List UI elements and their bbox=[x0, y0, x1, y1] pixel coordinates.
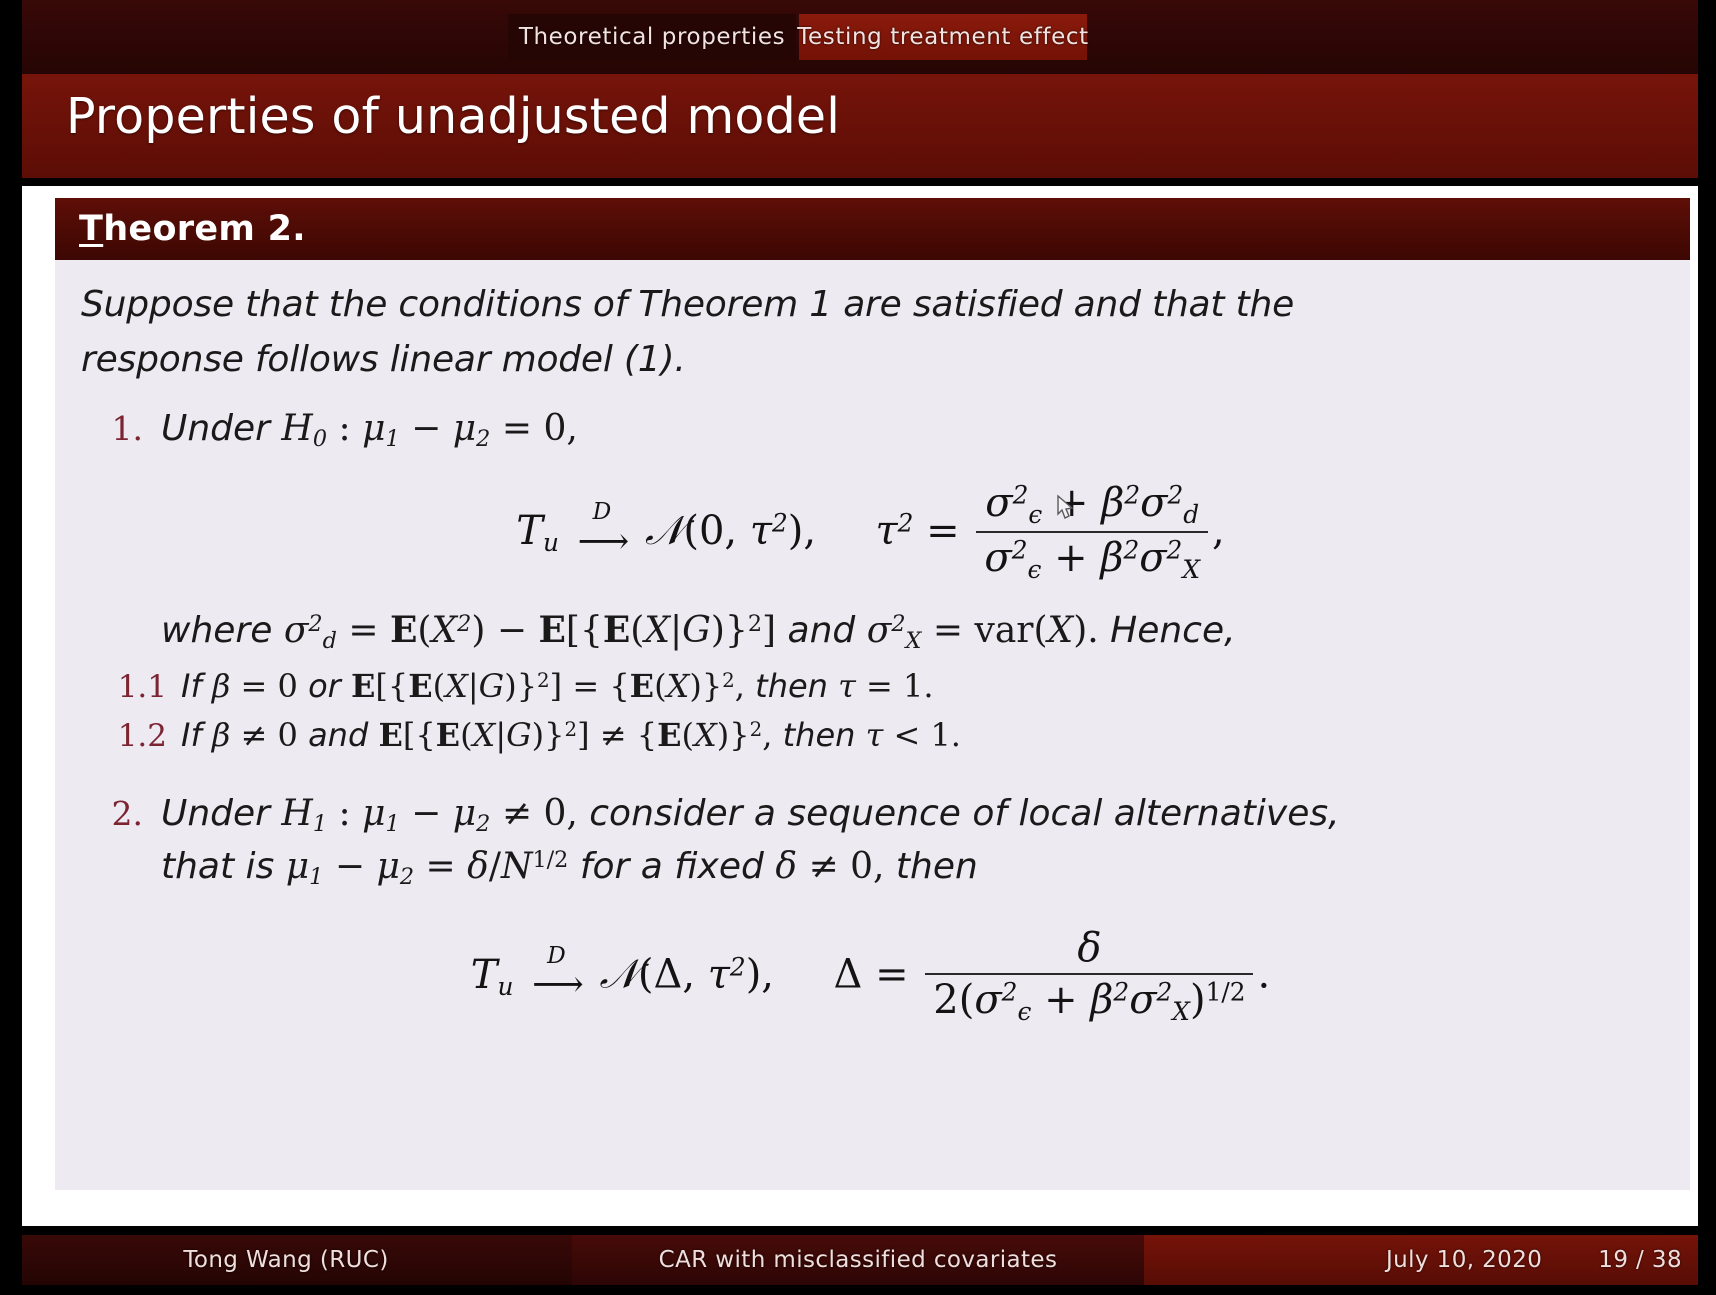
where-line: where σ2d = E(X2) − E[{E(X|G)}2] and σ2X… bbox=[161, 604, 1236, 658]
math-G: G bbox=[479, 667, 505, 705]
footer-date: July 10, 2020 bbox=[1386, 1247, 1542, 1273]
math-comma: , bbox=[735, 667, 745, 705]
theorem-statement: Suppose that the conditions of Theorem 1… bbox=[81, 278, 1660, 387]
item-1-number: 1. bbox=[81, 409, 161, 448]
theorem-item-2: 2. Under H1 : μ1 − μ2 ≠ 0, consider a se… bbox=[81, 788, 1660, 893]
math-sigma: σ bbox=[974, 977, 1001, 1023]
if-label: If bbox=[181, 667, 202, 705]
math-sup-2: 2 bbox=[748, 611, 762, 637]
math-zero: 0 bbox=[850, 846, 873, 887]
math-G: G bbox=[682, 610, 711, 651]
slide-content: Theorem 2. Suppose that the conditions o… bbox=[22, 186, 1698, 1226]
math-lparen: ( bbox=[433, 667, 445, 705]
math-bf-E: E bbox=[390, 609, 417, 651]
math-mid: | bbox=[670, 610, 682, 651]
math-lparen: ( bbox=[1034, 610, 1048, 651]
math-sub-1: 1 bbox=[385, 427, 399, 453]
math-sup-2: 2 bbox=[1123, 536, 1139, 565]
math-sup-2: 2 bbox=[1124, 481, 1140, 510]
math-sup-2: 2 bbox=[1167, 536, 1183, 565]
math-delta: δ bbox=[775, 846, 797, 887]
math-rparen: ) bbox=[746, 952, 762, 998]
math-mu: μ bbox=[453, 408, 476, 449]
fraction-denominator: 2(σ2ϵ + β2σ2X)1/2 bbox=[925, 973, 1253, 1026]
math-zero: 0 bbox=[278, 667, 298, 705]
math-X: X bbox=[644, 610, 670, 651]
math-sub-X: X bbox=[1182, 555, 1200, 584]
theorem-title-number: 2. bbox=[268, 209, 306, 249]
frame-edge-bottom bbox=[0, 1285, 1716, 1295]
math-beta: β bbox=[1100, 535, 1123, 581]
math-one: 1 bbox=[903, 667, 923, 705]
and-label: and bbox=[308, 716, 368, 754]
math-H: H bbox=[281, 408, 312, 449]
theorem-statement-line-1: Suppose that the conditions of Theorem 1… bbox=[81, 278, 1660, 333]
math-rbrace: } bbox=[729, 716, 749, 754]
item-2-text: Under H1 : μ1 − μ2 ≠ 0, consider a seque… bbox=[161, 788, 1340, 893]
slide-root: Theoretical properties Testing treatment… bbox=[0, 0, 1716, 1295]
math-sub-epsilon: ϵ bbox=[1027, 555, 1041, 584]
math-lparen: ( bbox=[654, 667, 666, 705]
footer-page-number: 19 / 38 bbox=[1598, 1247, 1682, 1273]
fraction-denominator: σ2ϵ + β2σ2X bbox=[976, 531, 1208, 584]
theorem-item-1: 1. Under H0 : μ1 − μ2 = 0, bbox=[81, 403, 1660, 456]
math-sup-2: 2 bbox=[898, 509, 914, 538]
math-plus: + bbox=[1055, 480, 1089, 526]
math-plus: + bbox=[1044, 977, 1078, 1023]
math-sup-half: 1/2 bbox=[1206, 978, 1246, 1007]
math-bf-E: E bbox=[538, 609, 565, 651]
math-sigma: σ bbox=[1139, 535, 1166, 581]
math-beta: β bbox=[212, 716, 231, 754]
math-sub-u: u bbox=[497, 972, 513, 1001]
math-sub-epsilon: ϵ bbox=[1028, 500, 1042, 529]
math-rparen: ) bbox=[788, 508, 804, 554]
math-sub-d: d bbox=[1183, 500, 1199, 529]
math-sigma: σ bbox=[1140, 480, 1167, 526]
math-two: 2 bbox=[933, 977, 958, 1023]
math-sup-2: 2 bbox=[565, 718, 578, 741]
math-lbrace: { bbox=[637, 716, 657, 754]
math-minus: − bbox=[497, 610, 527, 651]
math-sub-1: 1 bbox=[309, 864, 323, 890]
math-lbrack: [ bbox=[375, 667, 387, 705]
math-sigma: σ bbox=[1129, 977, 1156, 1023]
math-T: T bbox=[471, 952, 498, 998]
math-one: 1 bbox=[930, 716, 950, 754]
theorem-title-rest: heorem bbox=[103, 209, 255, 249]
then-label: then bbox=[896, 846, 978, 887]
math-rparen: ) bbox=[532, 716, 544, 754]
math-comma: , bbox=[1212, 508, 1225, 554]
math-sub-1: 1 bbox=[385, 811, 399, 837]
math-zero: 0 bbox=[278, 716, 298, 754]
frame-edge-left bbox=[0, 0, 22, 1295]
if-label: If bbox=[181, 716, 202, 754]
math-rbrace: } bbox=[544, 716, 564, 754]
math-sub-u: u bbox=[543, 528, 559, 557]
math-rparen: ) bbox=[1190, 977, 1206, 1023]
for-a-fixed-label: for a fixed bbox=[580, 846, 764, 887]
math-cal-N: 𝒩 bbox=[645, 508, 683, 554]
math-sigma: σ bbox=[867, 610, 892, 651]
math-sigma: σ bbox=[984, 535, 1011, 581]
theorem-block-title: Theorem 2. bbox=[79, 209, 306, 249]
math-lbrack: [ bbox=[566, 610, 580, 651]
item-1-1-text: If β = 0 or E[{E(X|G)}2] = {E(X)}2, then… bbox=[181, 663, 934, 709]
math-tau: τ bbox=[876, 508, 898, 554]
converges-in-distribution-arrow: D ⟶ bbox=[532, 944, 581, 1003]
math-beta: β bbox=[1090, 977, 1113, 1023]
math-lparen: ( bbox=[417, 610, 431, 651]
math-mu: μ bbox=[362, 408, 385, 449]
where-line-row: where σ2d = E(X2) − E[{E(X|G)}2] and σ2X… bbox=[81, 604, 1660, 658]
math-lparen: ( bbox=[638, 952, 654, 998]
math-lparen: ( bbox=[460, 716, 472, 754]
item-1-2-number: 1.2 bbox=[81, 718, 181, 754]
math-mu: μ bbox=[286, 846, 309, 887]
math-rparen: ) bbox=[504, 667, 516, 705]
item-1-1-number: 1.1 bbox=[81, 669, 181, 705]
math-eq: = bbox=[875, 952, 909, 998]
math-T: T bbox=[516, 508, 543, 554]
nav-item-theoretical-properties[interactable]: Theoretical properties bbox=[508, 14, 796, 60]
math-X: X bbox=[667, 667, 690, 705]
math-bf-E: E bbox=[436, 716, 460, 754]
that-is-label: that is bbox=[161, 846, 274, 887]
math-comma: , bbox=[761, 952, 774, 998]
math-sub-d: d bbox=[323, 628, 337, 654]
math-period: . bbox=[1257, 952, 1270, 998]
math-lbrace: { bbox=[580, 610, 603, 651]
math-comma: , bbox=[762, 716, 772, 754]
math-Delta: Δ bbox=[833, 952, 862, 998]
math-eq: = bbox=[502, 408, 532, 449]
and-label: and bbox=[788, 610, 856, 651]
math-colon: : bbox=[338, 408, 350, 449]
math-N: N bbox=[501, 846, 533, 887]
tau-squared-fraction: σ2ϵ + β2σ2d σ2ϵ + β2σ2X bbox=[976, 480, 1208, 584]
math-lbrace: { bbox=[388, 667, 408, 705]
nav-item-label: Theoretical properties bbox=[519, 24, 785, 50]
math-bf-E: E bbox=[378, 716, 402, 754]
math-rparen: ) bbox=[689, 667, 701, 705]
math-period: . bbox=[923, 667, 933, 705]
math-minus: − bbox=[411, 793, 441, 834]
math-sup-2: 2 bbox=[537, 670, 550, 693]
theorem-item-1-2: 1.2 If β ≠ 0 and E[{E(X|G)}2] ≠ {E(X)}2,… bbox=[81, 712, 1660, 758]
delta-fraction: δ 2(σ2ϵ + β2σ2X)1/2 bbox=[925, 925, 1253, 1026]
math-eq: = bbox=[348, 610, 378, 651]
math-comma: , bbox=[724, 508, 737, 554]
math-slash: / bbox=[489, 846, 501, 887]
math-comma: , bbox=[566, 793, 577, 834]
math-tau: τ bbox=[708, 952, 730, 998]
math-rparen: ) bbox=[1073, 610, 1087, 651]
nav-item-label: Testing treatment effect bbox=[797, 24, 1088, 50]
theorem-block-body: Suppose that the conditions of Theorem 1… bbox=[55, 260, 1690, 1190]
math-tau: τ bbox=[866, 716, 884, 754]
math-rbrack: ] bbox=[550, 667, 562, 705]
math-eq: = bbox=[933, 610, 963, 651]
math-comma: , bbox=[803, 508, 816, 554]
hence-label: Hence, bbox=[1110, 610, 1235, 651]
math-lparen: ( bbox=[683, 508, 699, 554]
math-X: X bbox=[431, 610, 457, 651]
math-rparen: ) bbox=[711, 610, 725, 651]
math-lparen: ( bbox=[630, 610, 644, 651]
math-cal-N: 𝒩 bbox=[600, 952, 638, 998]
equation-1: Tu D ⟶ 𝒩(0, τ2), τ2 = σ2ϵ + β2σ2d bbox=[81, 482, 1660, 586]
math-comma: , bbox=[566, 408, 577, 449]
math-rbrack: ] bbox=[762, 610, 776, 651]
math-sub-X: X bbox=[906, 628, 922, 654]
footer-date-page: July 10, 2020 19 / 38 bbox=[1144, 1235, 1716, 1285]
math-var: var bbox=[974, 610, 1033, 651]
math-lbrack: [ bbox=[403, 716, 415, 754]
consider-sequence-label: consider a sequence of local alternative… bbox=[589, 793, 1339, 834]
math-bf-E: E bbox=[408, 667, 432, 705]
math-eq: = bbox=[926, 508, 960, 554]
where-label: where bbox=[161, 610, 272, 651]
math-rbrack: ] bbox=[577, 716, 589, 754]
math-tau: τ bbox=[838, 667, 856, 705]
math-bf-E: E bbox=[351, 667, 375, 705]
math-bf-E: E bbox=[603, 609, 630, 651]
math-long-arrow: ⟶ bbox=[578, 524, 627, 560]
math-sub-X: X bbox=[1172, 997, 1190, 1026]
math-H: H bbox=[281, 793, 312, 834]
footer-author: Tong Wang (RUC) bbox=[0, 1235, 572, 1285]
math-X: X bbox=[473, 716, 496, 754]
math-sub-epsilon: ϵ bbox=[1017, 997, 1031, 1026]
math-sup-2: 2 bbox=[772, 509, 788, 538]
footer-bar: Tong Wang (RUC) CAR with misclassified c… bbox=[0, 1235, 1716, 1285]
or-label: or bbox=[308, 667, 341, 705]
math-eq: = bbox=[241, 667, 268, 705]
math-period: . bbox=[1087, 610, 1098, 651]
math-delta: δ bbox=[1077, 925, 1101, 971]
math-Delta: Δ bbox=[653, 952, 682, 998]
under-label: Under bbox=[161, 793, 270, 834]
math-delta: δ bbox=[467, 846, 489, 887]
math-X: X bbox=[1048, 610, 1074, 651]
math-plus: + bbox=[1054, 535, 1088, 581]
math-mid: | bbox=[468, 667, 479, 705]
math-sup-2: 2 bbox=[1012, 536, 1028, 565]
item-1-2-text: If β ≠ 0 and E[{E(X|G)}2] ≠ {E(X)}2, the… bbox=[181, 712, 961, 758]
math-rparen: ) bbox=[471, 610, 485, 651]
fraction-numerator: σ2ϵ + β2σ2d bbox=[977, 480, 1207, 531]
title-band: Properties of unadjusted model bbox=[0, 74, 1716, 178]
math-rbrace: } bbox=[702, 667, 722, 705]
math-rbrace: } bbox=[725, 610, 748, 651]
math-sub-2: 2 bbox=[400, 864, 414, 890]
math-sup-2: 2 bbox=[1002, 978, 1018, 1007]
math-sup-2: 2 bbox=[730, 952, 746, 981]
equation-2: Tu D ⟶ 𝒩(Δ, τ2), Δ = δ 2 bbox=[81, 927, 1660, 1028]
math-neq: ≠ bbox=[502, 793, 532, 834]
math-lparen: ( bbox=[959, 977, 975, 1023]
math-rbrace: } bbox=[517, 667, 537, 705]
math-sup-2: 2 bbox=[1013, 481, 1029, 510]
math-minus: − bbox=[335, 846, 365, 887]
math-sup-2: 2 bbox=[1113, 978, 1129, 1007]
math-beta: β bbox=[1101, 480, 1124, 526]
frame-edge-right bbox=[1698, 0, 1716, 1295]
math-lt: < bbox=[893, 716, 920, 754]
item-2-number: 2. bbox=[81, 794, 161, 833]
math-X: X bbox=[694, 716, 717, 754]
math-period: . bbox=[951, 716, 961, 754]
item-1-text: Under H0 : μ1 − μ2 = 0, bbox=[161, 403, 578, 456]
math-G: G bbox=[506, 716, 532, 754]
math-lparen: ( bbox=[682, 716, 694, 754]
math-minus: − bbox=[411, 408, 441, 449]
math-neq: ≠ bbox=[600, 716, 627, 754]
math-bf-E: E bbox=[630, 667, 654, 705]
math-zero: 0 bbox=[543, 793, 566, 834]
math-sup-half: 1/2 bbox=[532, 847, 568, 873]
math-lbrace: { bbox=[609, 667, 629, 705]
math-colon: : bbox=[338, 793, 350, 834]
math-sigma: σ bbox=[985, 480, 1012, 526]
math-sup-2: 2 bbox=[1167, 481, 1183, 510]
fraction-numerator: δ bbox=[1069, 925, 1109, 973]
math-rparen: ) bbox=[717, 716, 729, 754]
page-title: Properties of unadjusted model bbox=[66, 88, 840, 145]
math-zero: 0 bbox=[699, 508, 724, 554]
theorem-block: Theorem 2. Suppose that the conditions o… bbox=[55, 198, 1690, 1190]
theorem-item-1-1: 1.1 If β = 0 or E[{E(X|G)}2] = {E(X)}2, … bbox=[81, 663, 1660, 709]
math-bf-E: E bbox=[657, 716, 681, 754]
navigation-bar: Theoretical properties Testing treatment… bbox=[0, 0, 1716, 74]
math-eq: = bbox=[572, 667, 599, 705]
math-mu: μ bbox=[453, 793, 476, 834]
math-X: X bbox=[445, 667, 468, 705]
math-eq: = bbox=[426, 846, 456, 887]
math-sub-2: 2 bbox=[476, 427, 490, 453]
math-long-arrow: ⟶ bbox=[532, 967, 581, 1003]
math-zero: 0 bbox=[543, 408, 566, 449]
math-sup-2: 2 bbox=[722, 670, 735, 693]
then-label: then bbox=[755, 667, 828, 705]
math-mu: μ bbox=[362, 793, 385, 834]
math-sup-2: 2 bbox=[457, 611, 471, 637]
theorem-title-underlined: T bbox=[79, 209, 103, 249]
nav-item-testing-treatment-effect[interactable]: Testing treatment effect bbox=[799, 14, 1087, 60]
math-sup-2: 2 bbox=[750, 718, 763, 741]
math-sub-1: 1 bbox=[313, 811, 327, 837]
math-comma: , bbox=[873, 846, 884, 887]
converges-in-distribution-arrow: D ⟶ bbox=[578, 500, 627, 559]
math-tau: τ bbox=[750, 508, 772, 554]
math-sup-2: 2 bbox=[891, 611, 905, 637]
math-sub-2: 2 bbox=[476, 811, 490, 837]
math-beta: β bbox=[212, 667, 231, 705]
math-comma: , bbox=[682, 952, 695, 998]
math-neq: ≠ bbox=[241, 716, 268, 754]
then-label: then bbox=[783, 716, 856, 754]
math-sigma: σ bbox=[284, 610, 309, 651]
math-sup-2: 2 bbox=[308, 611, 322, 637]
math-sup-2: 2 bbox=[1157, 978, 1173, 1007]
theorem-statement-line-2: response follows linear model (1). bbox=[81, 333, 1660, 388]
theorem-block-header: Theorem 2. bbox=[55, 198, 1690, 260]
math-mid: | bbox=[495, 716, 506, 754]
math-lbrace: { bbox=[415, 716, 435, 754]
math-mu: μ bbox=[376, 846, 399, 887]
math-sub-0: 0 bbox=[313, 427, 327, 453]
math-eq: = bbox=[866, 667, 893, 705]
math-neq: ≠ bbox=[808, 846, 838, 887]
footer-short-title: CAR with misclassified covariates bbox=[572, 1235, 1144, 1285]
